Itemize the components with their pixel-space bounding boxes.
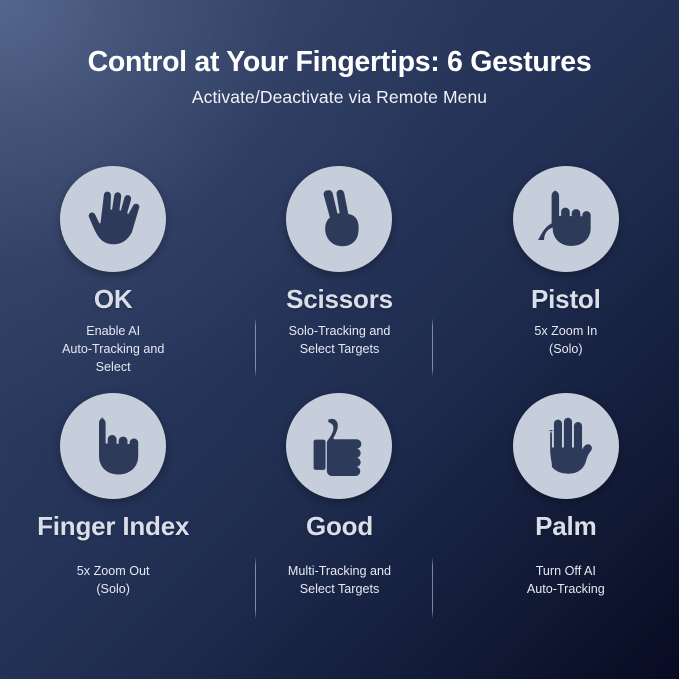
gesture-name: Palm xyxy=(535,512,596,541)
gesture-card-ok: OK Enable AI Auto-Tracking and Select xyxy=(0,166,226,377)
gesture-description: Turn Off AI Auto-Tracking xyxy=(527,563,605,599)
page-subtitle: Activate/Deactivate via Remote Menu xyxy=(0,87,679,108)
gesture-description: Enable AI Auto-Tracking and Select xyxy=(62,323,164,377)
gesture-description: 5x Zoom Out (Solo) xyxy=(77,563,150,599)
card-divider xyxy=(432,318,433,377)
page-title: Control at Your Fingertips: 6 Gestures xyxy=(0,47,679,78)
gesture-row-2: Finger Index 5x Zoom Out (Solo) Good Mul… xyxy=(0,393,679,599)
poster-header: Control at Your Fingertips: 6 Gestures A… xyxy=(0,47,679,108)
open-palm-hand-icon xyxy=(513,393,619,499)
gesture-name: OK xyxy=(94,285,133,314)
ok-hand-icon xyxy=(60,166,166,272)
gesture-description: Solo-Tracking and Select Targets xyxy=(289,323,391,359)
gesture-guide-poster: Control at Your Fingertips: 6 Gestures A… xyxy=(0,0,679,679)
gesture-card-pistol: Pistol 5x Zoom In (Solo) xyxy=(453,166,679,377)
victory-hand-icon xyxy=(286,166,392,272)
gesture-name: Scissors xyxy=(286,285,393,314)
thumbs-up-hand-icon xyxy=(286,393,392,499)
gesture-row-1: OK Enable AI Auto-Tracking and Select Sc… xyxy=(0,166,679,377)
gesture-name: Good xyxy=(306,512,373,541)
card-divider xyxy=(255,318,256,377)
card-divider xyxy=(255,557,256,619)
gesture-description: 5x Zoom In (Solo) xyxy=(534,323,597,359)
index-pointing-up-hand-icon xyxy=(513,166,619,272)
gesture-card-palm: Palm Turn Off AI Auto-Tracking xyxy=(453,393,679,599)
gesture-card-good: Good Multi-Tracking and Select Targets xyxy=(226,393,452,599)
index-finger-up-hand-icon xyxy=(60,393,166,499)
gesture-name: Finger Index xyxy=(37,512,189,541)
gesture-card-scissors: Scissors Solo-Tracking and Select Target… xyxy=(226,166,452,377)
card-divider xyxy=(432,557,433,619)
gesture-description: Multi-Tracking and Select Targets xyxy=(288,563,391,599)
gesture-card-finger-index: Finger Index 5x Zoom Out (Solo) xyxy=(0,393,226,599)
gesture-name: Pistol xyxy=(531,285,601,314)
